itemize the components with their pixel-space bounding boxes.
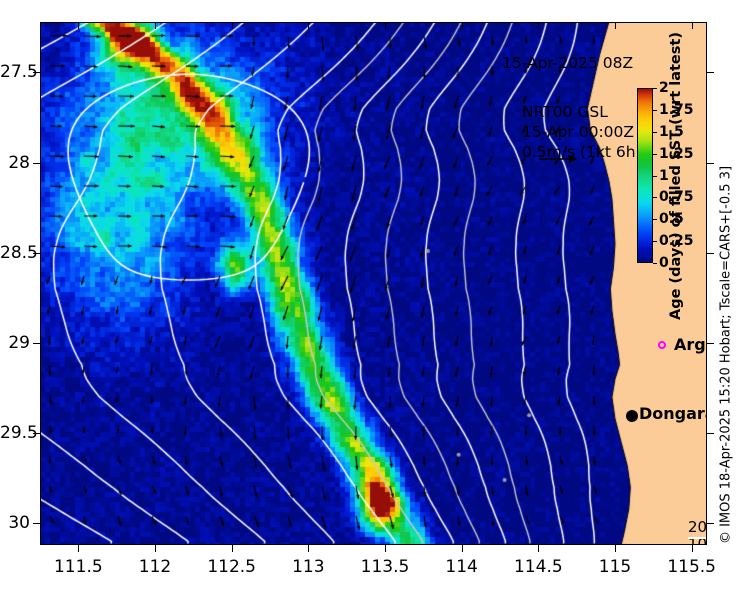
y-tick-mark-right: [707, 253, 714, 254]
colorbar-title: Age (days) of filled SST (wrt latest): [668, 32, 684, 320]
credit-label: © IMOS 18-Apr-2025 15:20 Hobart; Tscale=…: [719, 166, 734, 544]
x-tick-mark-top: [538, 22, 539, 29]
depth-200m-label: 200m: [688, 519, 707, 536]
x-tick-label: 114: [445, 557, 477, 577]
y-tick-label: 27.5: [0, 62, 30, 82]
argo-marker-label: Argo: [674, 335, 707, 354]
colorbar-tick-mark: [653, 154, 657, 155]
y-tick-mark-right: [707, 72, 714, 73]
y-tick-label: 30: [0, 513, 30, 533]
y-tick-mark-right: [707, 433, 714, 434]
x-tick-label: 115: [599, 557, 631, 577]
x-tick-mark: [308, 545, 309, 552]
map-overlay-layer: [40, 22, 707, 545]
bathymetry-depth-legend: 200m 1000m: [688, 519, 707, 545]
colorbar-gradient: [638, 89, 652, 262]
colorbar-tick-mark: [653, 88, 657, 89]
x-tick-mark: [385, 545, 386, 552]
figure-canvas: 15-Apr-2025 08Z NRT00 GSL 15-Apr 00:00Z …: [0, 0, 740, 592]
x-tick-mark: [155, 545, 156, 552]
x-tick-mark: [615, 545, 616, 552]
x-tick-mark-top: [308, 22, 309, 29]
colorbar-tick-mark: [653, 241, 657, 242]
x-tick-mark: [232, 545, 233, 552]
x-tick-label: 112.5: [207, 557, 256, 577]
colorbar-tick-mark: [653, 263, 657, 264]
x-tick-mark: [692, 545, 693, 552]
x-tick-label: 113.5: [361, 557, 410, 577]
x-tick-mark: [538, 545, 539, 552]
x-tick-mark-top: [462, 22, 463, 29]
y-tick-mark: [33, 343, 40, 344]
x-tick-mark-top: [692, 22, 693, 29]
y-tick-mark: [33, 523, 40, 524]
x-tick-label: 111.5: [54, 557, 103, 577]
y-tick-label: 29.5: [0, 423, 30, 443]
y-tick-label: 28.5: [0, 243, 30, 263]
colorbar[interactable]: [637, 88, 653, 263]
y-tick-mark: [33, 163, 40, 164]
colorbar-tick-mark: [653, 176, 657, 177]
colorbar-tick-mark: [653, 132, 657, 133]
argo-float-marker-icon[interactable]: [658, 341, 666, 349]
y-tick-mark-right: [707, 163, 714, 164]
valid-time-label: 15-Apr 00:00Z: [522, 122, 642, 142]
x-tick-label: 112: [139, 557, 171, 577]
y-tick-mark-right: [707, 523, 714, 524]
x-tick-mark-top: [232, 22, 233, 29]
x-tick-mark: [462, 545, 463, 552]
y-tick-label: 29: [0, 333, 30, 353]
x-tick-mark-top: [78, 22, 79, 29]
y-tick-mark-right: [707, 343, 714, 344]
x-tick-mark-top: [385, 22, 386, 29]
x-tick-label: 114.5: [514, 557, 563, 577]
y-tick-label: 28: [0, 153, 30, 173]
dongara-city-marker-icon[interactable]: [626, 410, 638, 422]
depth-200m-line-sample: [688, 537, 707, 539]
colorbar-tick-mark: [653, 197, 657, 198]
product-name-label: NRT00 GSL: [522, 102, 642, 122]
dongara-marker-label: Dongara: [639, 404, 707, 423]
x-tick-label: 113: [292, 557, 324, 577]
colorbar-tick-mark: [653, 110, 657, 111]
x-tick-mark-top: [615, 22, 616, 29]
colorbar-tick-mark: [653, 219, 657, 220]
x-tick-mark-top: [155, 22, 156, 29]
reference-vector-arrow-icon: [538, 152, 578, 166]
x-tick-label: 115.5: [667, 557, 716, 577]
timestamp-label: 15-Apr-2025 08Z: [502, 54, 633, 72]
x-tick-mark: [78, 545, 79, 552]
map-plot-area[interactable]: 15-Apr-2025 08Z NRT00 GSL 15-Apr 00:00Z …: [40, 22, 707, 545]
